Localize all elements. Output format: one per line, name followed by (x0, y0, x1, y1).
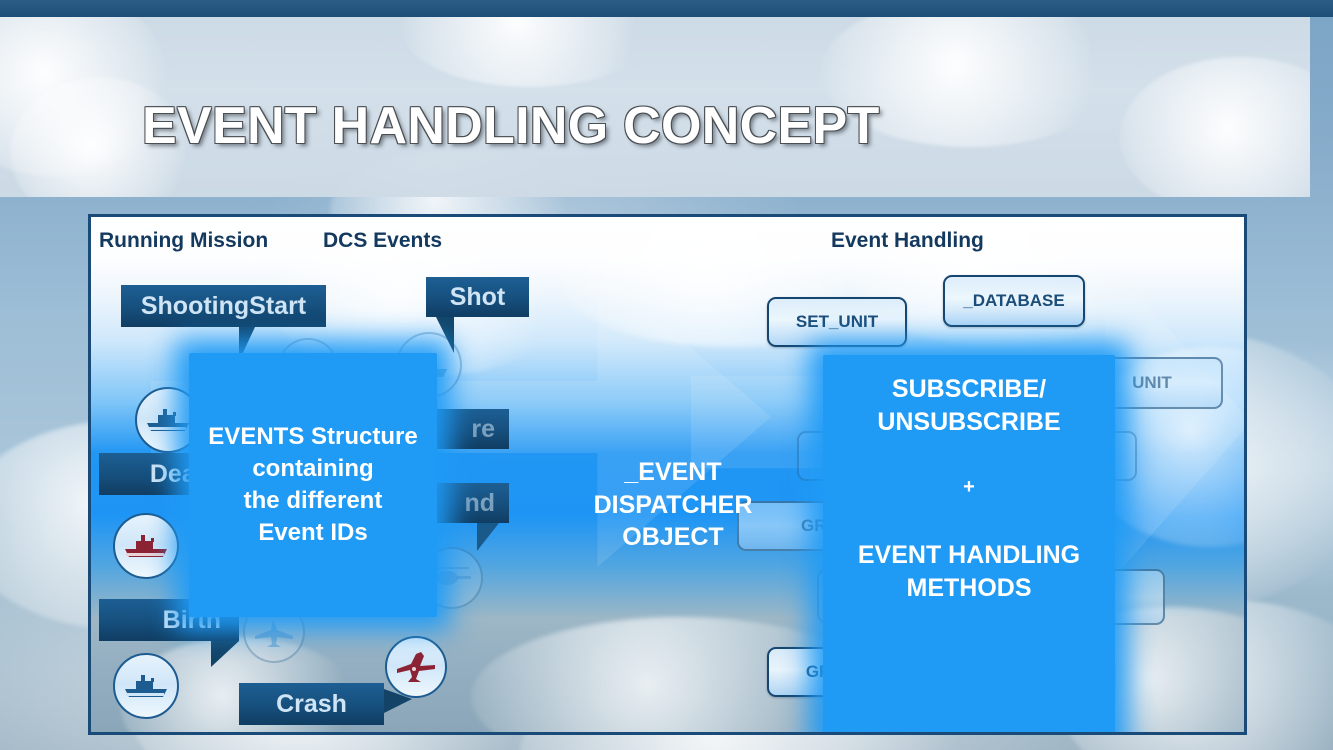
callout-crash: Crash (239, 683, 384, 725)
cloud-decoration (1120, 57, 1310, 197)
overlay-line: EVENT HANDLING (858, 539, 1080, 572)
overlay-line: METHODS (907, 572, 1032, 605)
callout-tail (436, 317, 454, 353)
overlay-plus-symbol: + (963, 476, 975, 499)
overlay-events-structure: EVENTS Structure containing the differen… (189, 353, 437, 617)
column-header-event-handling: Event Handling (831, 229, 984, 253)
api-box-label: _DATABASE (963, 291, 1064, 310)
api-box-set-unit[interactable]: SET_UNIT (767, 297, 907, 347)
overlay-event-handling: SUBSCRIBE/ UNSUBSCRIBE + EVENT HANDLING … (823, 355, 1115, 735)
aircraft-icon (253, 616, 295, 648)
ship-icon (123, 532, 169, 560)
column-header-running-mission: Running Mission (99, 229, 268, 253)
callout-tail (477, 523, 499, 551)
overlay-line: _EVENT (624, 456, 721, 489)
ship-icon (145, 406, 191, 434)
callout-tail (211, 641, 239, 667)
overlay-line: the different (244, 485, 383, 517)
helicopter-icon (431, 564, 473, 592)
api-box-label: UNIT (1132, 373, 1172, 392)
unit-icon-ship-red (113, 513, 179, 579)
title-band: EVENT HANDLING CONCEPT (0, 17, 1310, 197)
overlay-line: DISPATCHER (594, 489, 753, 522)
callout-shootingstart: ShootingStart (121, 285, 326, 327)
callout-label: Shot (450, 283, 506, 312)
cloud-decoration (400, 17, 660, 87)
unit-icon-ship-blue (113, 653, 179, 719)
slide-stage: EVENT HANDLING CONCEPT Running Mission D… (0, 0, 1333, 750)
callout-label: ShootingStart (141, 292, 306, 321)
top-accent-strip (0, 0, 1333, 17)
callout-label: Crash (276, 690, 347, 719)
overlay-line: Event IDs (258, 517, 367, 549)
page-title: EVENT HANDLING CONCEPT (142, 96, 880, 156)
overlay-line: containing (252, 453, 373, 485)
diagram-panel: Running Mission DCS Events Event Handlin… (88, 214, 1247, 735)
overlay-line: EVENTS Structure (208, 421, 417, 453)
overlay-line: UNSUBSCRIBE (877, 406, 1060, 439)
overlay-line: OBJECT (622, 521, 723, 554)
overlay-line: SUBSCRIBE/ (892, 373, 1046, 406)
callout-tail (384, 689, 412, 713)
callout-label: nd (464, 489, 495, 518)
api-box-database[interactable]: _DATABASE (943, 275, 1085, 327)
callout-shot: Shot (426, 277, 529, 317)
api-box-label: SET_UNIT (796, 312, 878, 331)
aircraft-icon (394, 650, 438, 684)
overlay-event-dispatcher: _EVENT DISPATCHER OBJECT (527, 393, 819, 617)
ship-icon (123, 672, 169, 700)
column-header-dcs-events: DCS Events (323, 229, 442, 253)
callout-label: re (471, 415, 495, 444)
